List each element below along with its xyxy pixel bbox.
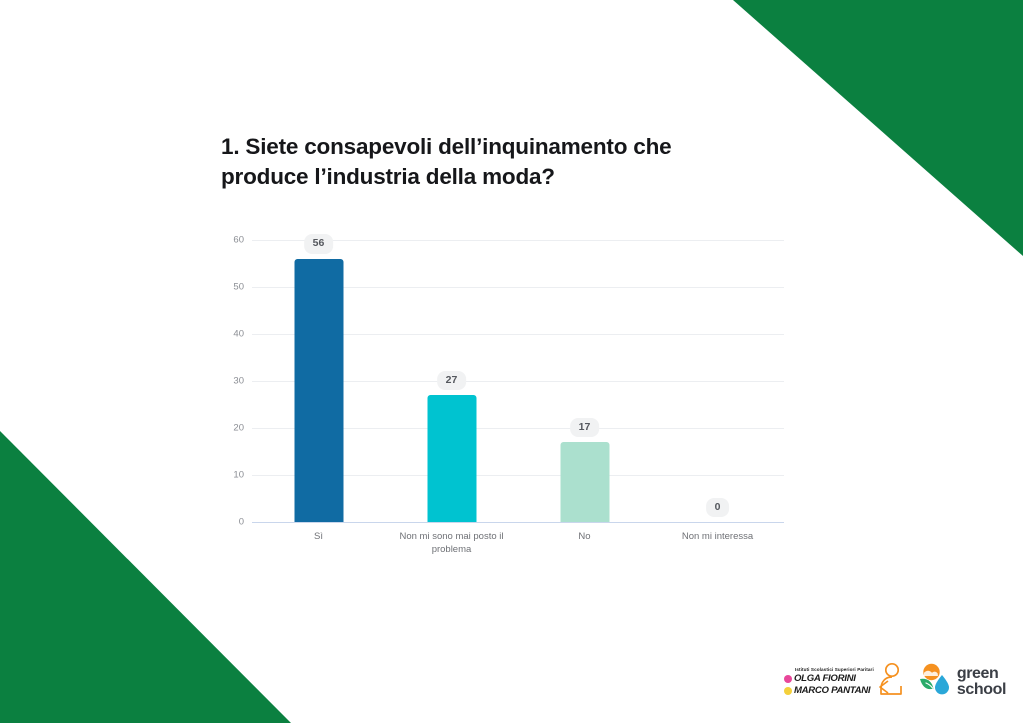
- x-axis-tick-label: Sì: [258, 530, 379, 543]
- y-axis-tick-label: 10: [233, 470, 244, 481]
- y-axis-tick-label: 30: [233, 376, 244, 387]
- school-logo-text: Istituti Scolastici Superiori Paritari O…: [784, 667, 874, 696]
- school-logo-line-2: MARCO PANTANI: [784, 685, 874, 696]
- bar-slot: 17: [518, 240, 651, 522]
- footer-logos: Istituti Scolastici Superiori Paritari O…: [784, 662, 1006, 701]
- x-axis-label-slot: No: [518, 530, 651, 556]
- bar[interactable]: [294, 259, 343, 522]
- gridline: [252, 522, 784, 523]
- x-axis-tick-label: No: [524, 530, 645, 543]
- bar-slot: 56: [252, 240, 385, 522]
- green-school-word-1: green: [957, 666, 1006, 681]
- bar-slot: 27: [385, 240, 518, 522]
- school-logo-name-1: OLGA FIORINI: [794, 673, 856, 684]
- x-axis-tick-label: Non mi interessa: [657, 530, 778, 543]
- pink-dot-icon: [784, 675, 792, 683]
- olga-fiorini-marco-pantani-logo: Istituti Scolastici Superiori Paritari O…: [784, 662, 903, 701]
- y-axis-tick-label: 20: [233, 423, 244, 434]
- page-title: 1. Siete consapevoli dell’inquinamento c…: [221, 132, 741, 191]
- chart-bars: 5627170: [252, 240, 784, 522]
- school-logo-superscript: Istituti Scolastici Superiori Paritari: [795, 667, 874, 672]
- bar-chart: 6050403020100 5627170 SìNon mi sono mai …: [228, 228, 784, 538]
- y-axis-tick-label: 40: [233, 329, 244, 340]
- y-axis-tick-label: 50: [233, 282, 244, 293]
- person-outline-icon: [877, 662, 903, 701]
- x-axis-label-slot: Sì: [252, 530, 385, 556]
- y-axis-tick-label: 60: [233, 235, 244, 246]
- bar[interactable]: [427, 395, 476, 522]
- green-school-word-2: school: [957, 682, 1006, 697]
- slide-canvas: 1. Siete consapevoli dell’inquinamento c…: [0, 0, 1023, 723]
- school-logo-line-1: OLGA FIORINI: [784, 673, 874, 684]
- yellow-dot-icon: [784, 687, 792, 695]
- green-school-mark-icon: [917, 663, 951, 700]
- x-axis-label-slot: Non mi sono mai posto il problema: [385, 530, 518, 556]
- y-axis-tick-label: 0: [239, 517, 244, 528]
- bar[interactable]: [560, 442, 609, 522]
- bar-slot: 0: [651, 240, 784, 522]
- decorative-corner-top-right: [733, 0, 1023, 256]
- bar-value-label: 56: [304, 234, 334, 254]
- bar-value-label: 0: [706, 498, 730, 518]
- chart-x-axis-labels: SìNon mi sono mai posto il problemaNoNon…: [252, 530, 784, 556]
- bar-value-label: 27: [437, 371, 467, 391]
- school-logo-name-2: MARCO PANTANI: [794, 685, 870, 696]
- chart-plot-area: 6050403020100 5627170: [252, 240, 784, 522]
- x-axis-label-slot: Non mi interessa: [651, 530, 784, 556]
- x-axis-tick-label: Non mi sono mai posto il problema: [391, 530, 512, 556]
- green-school-wordmark: green school: [957, 666, 1006, 696]
- green-school-logo: green school: [917, 663, 1006, 700]
- bar-value-label: 17: [570, 418, 600, 438]
